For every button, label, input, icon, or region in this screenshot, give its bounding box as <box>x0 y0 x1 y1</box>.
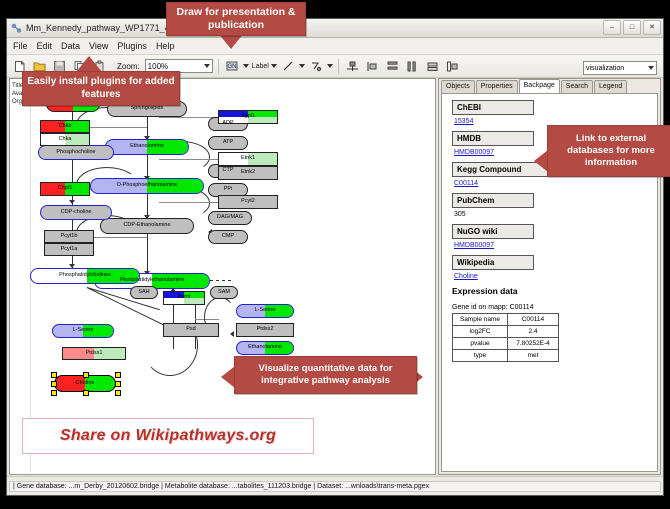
cell-value: met <box>508 350 559 362</box>
align-left-icon[interactable] <box>364 58 381 75</box>
callout-share-wikipathways: Share on Wikipathways.org <box>22 418 314 454</box>
label-tool-label: Label <box>252 63 269 70</box>
db-chebi-header: ChEBI <box>452 100 534 115</box>
node-dag-mag[interactable]: DAG/MAG <box>208 211 252 225</box>
handle-s[interactable] <box>83 390 89 396</box>
node-pcyt1b[interactable]: Pcyt1b <box>44 230 94 243</box>
menu-data[interactable]: Data <box>61 41 80 51</box>
db-kegg-link[interactable]: C00114 <box>454 180 657 187</box>
callout-install-plugins: Easily install plugins for added feature… <box>22 71 180 106</box>
align-center-icon[interactable] <box>344 58 361 75</box>
zoom-value: 100% <box>148 62 168 71</box>
distribute-vertical-icon[interactable] <box>384 58 401 75</box>
cell-key: log2FC <box>453 326 508 338</box>
group-icon[interactable] <box>444 58 461 75</box>
db-wikipedia-header: Wikipedia <box>452 255 534 270</box>
gene-id-text: Gene id on mapp: C00114 <box>452 304 657 311</box>
chevron-down-icon <box>271 64 277 68</box>
handle-n[interactable] <box>83 372 89 378</box>
db-chebi-link[interactable]: 15354 <box>454 118 657 125</box>
tab-backpage[interactable]: Backpage <box>519 79 560 93</box>
node-o-phosphoethanolamine[interactable]: O-Phosphoethanolamine <box>90 178 204 194</box>
cell-key: pvalue <box>453 338 508 350</box>
window-titlebar: Mm_Kennedy_pathway_WP1771_45176.gpml – □… <box>7 19 663 38</box>
handle-ne[interactable] <box>115 372 121 378</box>
node-sam[interactable]: SAM <box>210 286 238 299</box>
window-controls: – □ ✕ <box>603 20 661 35</box>
cell-value: 2.4 <box>508 326 559 338</box>
panel-tabs: Objects Properties Backpage Search Legen… <box>439 79 660 93</box>
callout-external-links: Link to external databases for more info… <box>547 125 670 177</box>
pathway-canvas[interactable]: Sphingolipids Ethanolamine O-Phosphoetha… <box>32 79 435 474</box>
expression-table: Sample name C00114 log2FC 2.4 pvalue 7.8… <box>452 313 559 362</box>
menu-plugins[interactable]: Plugins <box>117 41 147 51</box>
node-ptdss2[interactable]: Ptdss2 <box>236 323 294 337</box>
minimize-button[interactable]: – <box>603 20 621 35</box>
chevron-down-icon <box>648 66 654 70</box>
visualization-select[interactable]: visualization <box>583 61 657 75</box>
expression-data-title: Expression data <box>452 286 657 296</box>
tab-search[interactable]: Search <box>561 80 593 93</box>
line-tool[interactable] <box>280 58 305 75</box>
node-sah[interactable]: SAH <box>130 286 158 299</box>
node-pcyt2[interactable]: Pcyt2 <box>218 195 278 209</box>
handle-se[interactable] <box>115 390 121 396</box>
connector-pcyt1 <box>94 237 147 238</box>
node-chpt1[interactable]: Chpt1 <box>40 182 90 196</box>
cell-key: type <box>453 350 508 362</box>
shape-tool[interactable]: GN <box>224 58 249 75</box>
node-pemt[interactable]: Pemt <box>163 291 205 305</box>
menubar: File Edit Data View Plugins Help <box>7 38 663 55</box>
arrow-left-icon <box>230 331 234 337</box>
callout-draw-for-publication: Draw for presentation & publication <box>166 2 306 36</box>
callout-arrow-left-icon <box>221 366 235 388</box>
arrow-down-icon <box>69 200 75 204</box>
edge-cdpetn-pe <box>147 234 148 274</box>
db-nugo-header: NuGO wiki <box>452 224 534 239</box>
table-row: pvalue 7.80252E-4 <box>453 338 559 350</box>
pathvisio-icon <box>11 23 22 34</box>
chevron-down-icon <box>204 64 210 68</box>
menu-help[interactable]: Help <box>156 41 175 51</box>
node-atp[interactable]: ATP <box>208 136 248 150</box>
tab-properties[interactable]: Properties <box>476 80 518 93</box>
node-etnk1[interactable]: Etnk1 <box>218 152 278 166</box>
svg-text:GN: GN <box>228 64 237 70</box>
db-pubchem-value: 305 <box>454 211 657 218</box>
node-l-serine-right[interactable]: L-Serine <box>236 304 294 318</box>
chevron-down-icon <box>299 64 305 68</box>
cell-key: Sample name <box>453 314 508 326</box>
callout-visualize-data: Visualize quantitative data for integrat… <box>234 356 417 394</box>
zoom-label: Zoom: <box>117 62 140 71</box>
pathway-info-column: Title: Availa Organ <box>11 80 31 473</box>
visualization-value: visualization <box>586 65 624 72</box>
connector-pcyt2 <box>159 202 219 203</box>
handle-w[interactable] <box>51 381 57 387</box>
node-ethanolamine-top[interactable]: Ethanolamine <box>105 139 189 155</box>
statusbar-text: | Gene database: ...m_Derby_20120602.bri… <box>9 481 661 492</box>
menu-edit[interactable]: Edit <box>37 41 53 51</box>
statusbar: | Gene database: ...m_Derby_20120602.bri… <box>7 476 663 495</box>
close-button[interactable]: ✕ <box>643 20 661 35</box>
tab-legend[interactable]: Legend <box>594 80 627 93</box>
node-ptdss1[interactable]: Ptdss1 <box>62 347 126 360</box>
callout-arrow-left-icon <box>534 150 548 172</box>
anchor-tool[interactable] <box>308 58 333 75</box>
node-cdp-ethanolamine[interactable]: CDP-Ethanolamine <box>100 218 194 234</box>
share-text: Share on Wikipathways.org <box>60 427 276 445</box>
line-icon <box>280 58 297 75</box>
shape-icon: GN <box>224 58 241 75</box>
handle-e[interactable] <box>115 381 121 387</box>
tab-objects[interactable]: Objects <box>441 80 475 93</box>
cell-value: C00114 <box>508 314 559 326</box>
maximize-button[interactable]: □ <box>623 20 641 35</box>
anchor-icon <box>308 58 325 75</box>
handle-sw[interactable] <box>51 390 57 396</box>
node-l-serine-left[interactable]: L-Serine <box>52 324 114 338</box>
node-psd[interactable]: Psd <box>163 323 219 337</box>
handle-nw[interactable] <box>51 372 57 378</box>
node-cmp[interactable]: CMP <box>208 230 248 244</box>
connector-chkb <box>90 127 147 128</box>
screenshot-root: Mm_Kennedy_pathway_WP1771_45176.gpml – □… <box>0 0 670 509</box>
node-pcyt1a[interactable]: Pcyt1a <box>44 243 94 256</box>
stack-icon[interactable] <box>424 58 441 75</box>
toolbar-separator <box>338 59 339 74</box>
menu-file[interactable]: File <box>13 41 28 51</box>
distribute-horizontal-icon[interactable] <box>404 58 421 75</box>
node-ethanolamine-bottom[interactable]: Ethanolamine <box>236 341 294 355</box>
node-cdp-choline[interactable]: CDP-choline <box>40 205 112 220</box>
db-wikipedia-link[interactable]: Choline <box>454 273 657 280</box>
node-chka[interactable]: Chka <box>40 133 90 146</box>
table-row: Sample name C00114 <box>453 314 559 326</box>
cell-value: 7.80252E-4 <box>508 338 559 350</box>
node-phosphocholine[interactable]: Phosphocholine <box>38 145 114 160</box>
db-hmdb-header: HMDB <box>452 131 534 146</box>
table-row: log2FC 2.4 <box>453 326 559 338</box>
chevron-down-icon <box>327 64 333 68</box>
pathway-canvas-panel[interactable]: Title: Availa Organ <box>9 78 436 475</box>
db-pubchem-header: PubChem <box>452 193 534 208</box>
node-chkb[interactable]: Chkb <box>40 120 90 133</box>
chevron-down-icon <box>243 64 249 68</box>
menu-view[interactable]: View <box>89 41 108 51</box>
label-tool[interactable]: Label <box>252 63 277 70</box>
db-nugo-link[interactable]: HMDB00097 <box>454 242 657 249</box>
table-row: type met <box>453 350 559 362</box>
toolbar-separator <box>218 59 219 74</box>
callout-arrow-up-icon <box>76 56 102 72</box>
connector-etnk <box>159 159 219 160</box>
